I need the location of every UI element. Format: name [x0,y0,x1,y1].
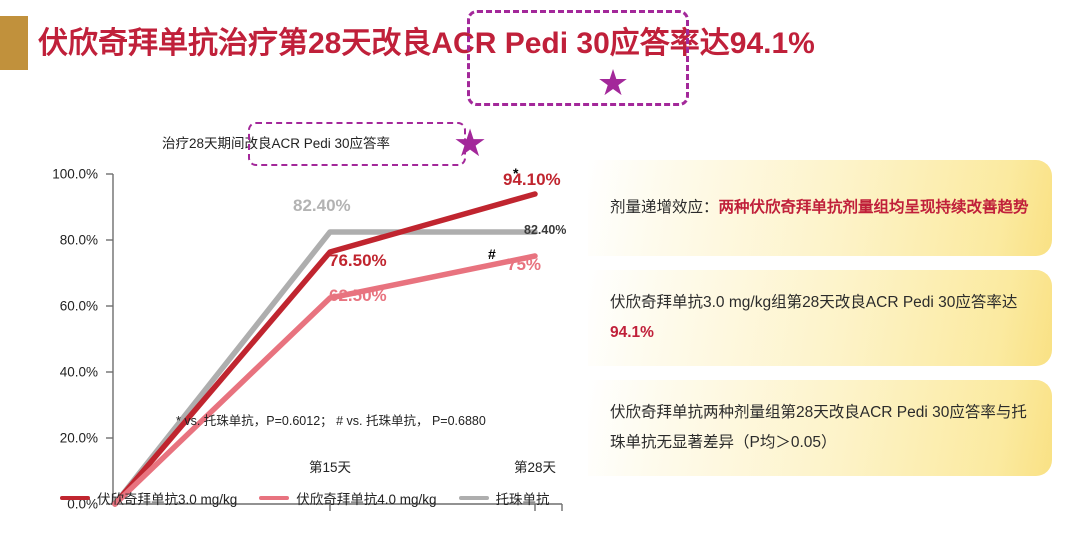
x-axis-labels: 第15天 第28天 [0,456,590,482]
chart-container: 治疗28天期间改良ACR Pedi 30应答率 ★ 100.0% 80.0% 6… [0,110,590,536]
callout-card-text: 伏欣奇拜单抗3.0 mg/kg组第28天改良ACR Pedi 30应答率达94.… [588,288,1052,348]
data-label-4mgkg-day15: 62.50% [329,286,387,306]
page-title: 伏欣奇拜单抗治疗第28天改良ACR Pedi 30应答率达94.1% [38,22,815,66]
callout-cards: 剂量递增效应：两种伏欣奇拜单抗剂量组均呈现持续改善趋势 伏欣奇拜单抗3.0 mg… [588,160,1080,530]
legend-item-4mgkg: 伏欣奇拜单抗4.0 mg/kg [259,488,436,508]
title-highlight-box [467,10,689,106]
data-label-3mgkg-day15: 76.50% [329,251,387,271]
data-label-3mgkg-day28: 94.10% [503,170,561,190]
callout-lead: 剂量递增效应： [610,199,719,216]
slide-root: 伏欣奇拜单抗治疗第28天改良ACR Pedi 30应答率达94.1% ★ 治疗2… [0,0,1080,536]
x-tick-label: 第15天 [309,456,351,476]
legend-label: 伏欣奇拜单抗4.0 mg/kg [296,488,436,508]
legend-label: 托珠单抗 [496,488,550,508]
significance-marker-hash: # [488,246,496,262]
callout-card-text: 剂量递增效应：两种伏欣奇拜单抗剂量组均呈现持续改善趋势 [588,193,1051,223]
data-label-4mgkg-day28: 75% [507,255,541,275]
data-label-tocilizumab-day15: 82.40% [293,196,351,216]
title-bar: 伏欣奇拜单抗治疗第28天改良ACR Pedi 30应答率达94.1% ★ [0,8,1080,72]
callout-card-no-significant-difference: 伏欣奇拜单抗两种剂量组第28天改良ACR Pedi 30应答率与托珠单抗无显著差… [588,380,1052,476]
callout-card-text: 伏欣奇拜单抗两种剂量组第28天改良ACR Pedi 30应答率与托珠单抗无显著差… [588,398,1052,458]
star-icon: ★ [452,126,488,162]
callout-lead: 伏欣奇拜单抗两种剂量组第28天改良ACR Pedi 30应答率与托珠单抗无显著差… [610,404,1027,451]
legend-item-3mgkg: 伏欣奇拜单抗3.0 mg/kg [60,488,237,508]
chart-legend: 伏欣奇拜单抗3.0 mg/kg 伏欣奇拜单抗4.0 mg/kg 托珠单抗 [60,486,590,510]
callout-lead: 伏欣奇拜单抗3.0 mg/kg组第28天改良ACR Pedi 30应答率达 [610,294,1017,311]
chart-subtitle-highlight-box [248,122,466,166]
chart-footnote: * vs. 托珠单抗，P=0.6012； # vs. 托珠单抗， P=0.688… [176,410,486,429]
callout-card-dose-escalation: 剂量递增效应：两种伏欣奇拜单抗剂量组均呈现持续改善趋势 [588,160,1052,256]
significance-marker-asterisk: * [513,165,518,181]
callout-card-3mgkg-response: 伏欣奇拜单抗3.0 mg/kg组第28天改良ACR Pedi 30应答率达94.… [588,270,1052,366]
legend-item-tocilizumab: 托珠单抗 [459,488,550,508]
data-label-tocilizumab-day28: 82.40% [524,223,566,237]
legend-label: 伏欣奇拜单抗3.0 mg/kg [97,488,237,508]
legend-swatch-icon [259,496,289,500]
star-icon: ★ [596,66,630,100]
gold-accent-block [0,16,28,70]
callout-highlight: 两种伏欣奇拜单抗剂量组均呈现持续改善趋势 [719,199,1029,216]
x-tick-label: 第28天 [514,456,556,476]
legend-swatch-icon [60,496,90,500]
legend-swatch-icon [459,496,489,500]
callout-highlight: 94.1% [610,324,654,341]
